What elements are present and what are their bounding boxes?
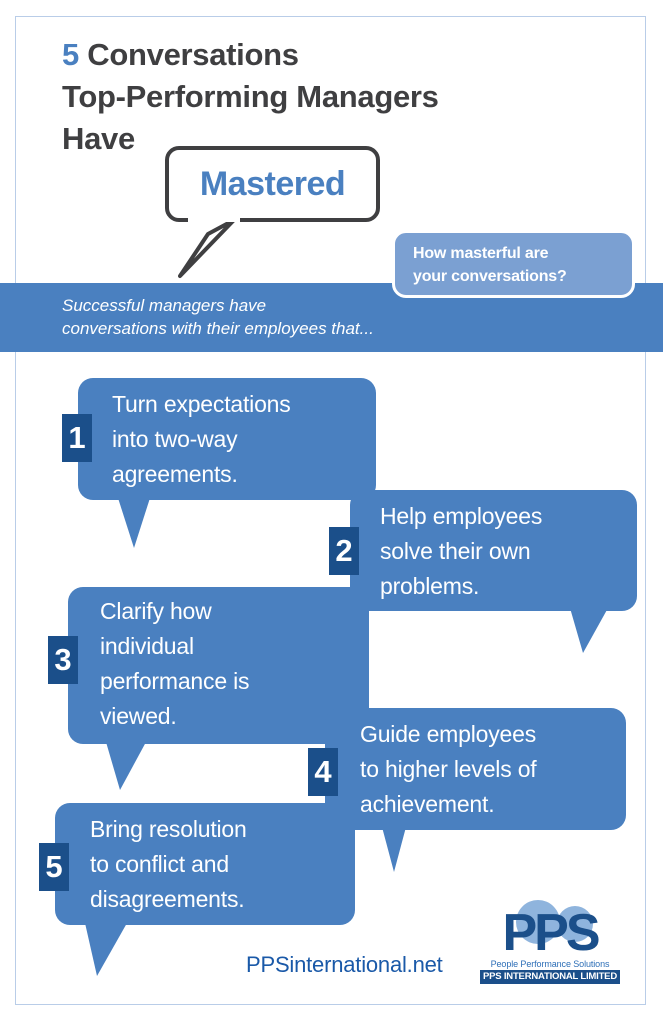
pps-logo-mark-icon: PPS xyxy=(480,898,620,958)
title-number-accent: 5 xyxy=(62,37,79,72)
bubble-1-line-3: agreements. xyxy=(112,457,291,492)
banner-line-1: Successful managers have xyxy=(62,294,374,317)
website-url-link[interactable]: PPSinternational.net xyxy=(246,952,443,978)
bubble-2-line-2: solve their own xyxy=(380,534,542,569)
list-item-bubble-1: Turn expectations into two-way agreement… xyxy=(78,378,376,500)
bubble-3-line-4: viewed. xyxy=(100,699,249,734)
bubble-5-line-2: to conflict and xyxy=(90,847,247,882)
pps-logo-tagline: People Performance Solutions xyxy=(480,959,620,969)
bubble-3-line-2: individual xyxy=(100,629,249,664)
number-badge-1: 1 xyxy=(62,414,92,462)
infographic-page: 5 Conversations Top-Performing Managers … xyxy=(0,0,663,1024)
bubble-5-line-1: Bring resolution xyxy=(90,812,247,847)
bubble-1-line-1: Turn expectations xyxy=(112,387,291,422)
callout-line-2: your conversations? xyxy=(413,265,632,288)
bubble-tail-4-icon xyxy=(382,827,406,872)
pps-logo-company-bar: PPS INTERNATIONAL LIMITED xyxy=(480,970,620,984)
bubble-2-line-3: problems. xyxy=(380,569,542,604)
intro-banner-text: Successful managers have conversations w… xyxy=(62,294,374,340)
title-line-1: 5 Conversations xyxy=(62,34,602,76)
list-item-bubble-3: Clarify how individual performance is vi… xyxy=(68,587,369,744)
bubble-5-line-3: disagreements. xyxy=(90,882,247,917)
number-badge-2: 2 xyxy=(329,527,359,575)
bubble-5-text: Bring resolution to conflict and disagre… xyxy=(90,812,247,917)
bubble-tail-2-icon xyxy=(570,608,608,653)
page-title: 5 Conversations Top-Performing Managers … xyxy=(62,34,602,160)
number-badge-5: 5 xyxy=(39,843,69,891)
bubble-1-text: Turn expectations into two-way agreement… xyxy=(112,387,291,492)
callout-line-1: How masterful are xyxy=(413,242,632,265)
bubble-1-line-2: into two-way xyxy=(112,422,291,457)
bubble-tail-3-icon xyxy=(106,742,146,790)
list-item-bubble-5: Bring resolution to conflict and disagre… xyxy=(55,803,355,925)
mastered-speech-bubble: Mastered xyxy=(165,146,380,222)
list-item-bubble-4: Guide employees to higher levels of achi… xyxy=(325,708,626,830)
bubble-4-line-3: achievement. xyxy=(360,787,536,822)
bubble-4-line-2: to higher levels of xyxy=(360,752,536,787)
banner-line-2: conversations with their employees that.… xyxy=(62,317,374,340)
bubble-2-text: Help employees solve their own problems. xyxy=(380,499,542,604)
title-line-2: Top-Performing Managers xyxy=(62,76,602,118)
svg-text:PPS: PPS xyxy=(502,904,598,958)
mastered-label: Mastered xyxy=(200,165,345,204)
bubble-4-line-1: Guide employees xyxy=(360,717,536,752)
list-item-bubble-2: Help employees solve their own problems. xyxy=(350,490,637,611)
bubble-2-line-1: Help employees xyxy=(380,499,542,534)
masterful-question-callout: How masterful are your conversations? xyxy=(392,230,635,298)
bubble-3-line-3: performance is xyxy=(100,664,249,699)
title-line-1-rest: Conversations xyxy=(79,37,299,72)
bubble-4-text: Guide employees to higher levels of achi… xyxy=(360,717,536,822)
bubble-3-line-1: Clarify how xyxy=(100,594,249,629)
mastered-bubble-tail-icon xyxy=(178,218,248,280)
bubble-tail-1-icon xyxy=(118,498,150,548)
pps-logo[interactable]: PPS People Performance Solutions PPS INT… xyxy=(480,898,620,988)
bubble-tail-5-icon xyxy=(85,923,127,976)
bubble-3-text: Clarify how individual performance is vi… xyxy=(100,594,249,734)
number-badge-3: 3 xyxy=(48,636,78,684)
number-badge-4: 4 xyxy=(308,748,338,796)
